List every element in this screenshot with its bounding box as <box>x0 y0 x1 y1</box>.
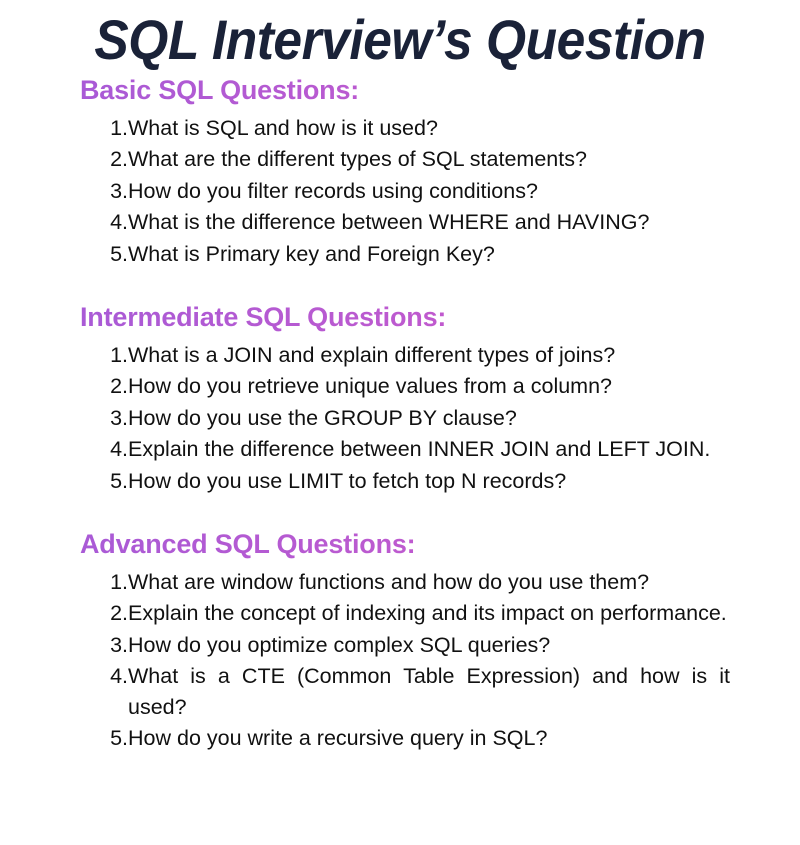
question-list-intermediate: 1. What is a JOIN and explain different … <box>80 340 730 497</box>
list-item-number: 1. <box>80 567 128 598</box>
list-item-number: 2. <box>80 598 128 629</box>
list-item-text: What is the difference between WHERE and… <box>128 207 730 238</box>
list-item-number: 5. <box>80 239 128 270</box>
list-item: 4. What is the difference between WHERE … <box>80 207 730 238</box>
list-item-text: How do you filter records using conditio… <box>128 176 730 207</box>
list-item: 1. What is a JOIN and explain different … <box>80 340 730 371</box>
section-basic-sql: Basic SQL Questions: 1. What is SQL and … <box>80 72 730 269</box>
question-list-basic: 1. What is SQL and how is it used? 2. Wh… <box>80 113 730 270</box>
list-item-number: 5. <box>80 466 128 497</box>
list-item-text: What are window functions and how do you… <box>128 567 730 598</box>
list-item: 3. How do you filter records using condi… <box>80 176 730 207</box>
list-item-text: How do you retrieve unique values from a… <box>128 371 730 402</box>
questions-container: Basic SQL Questions: 1. What is SQL and … <box>0 72 800 754</box>
list-item-text: What is Primary key and Foreign Key? <box>128 239 730 270</box>
list-item-text: Explain the concept of indexing and its … <box>128 598 730 629</box>
list-item-text: What are the different types of SQL stat… <box>128 144 730 175</box>
list-item-number: 1. <box>80 113 128 144</box>
list-item: 4. What is a CTE (Common Table Expressio… <box>80 661 730 722</box>
list-item-number: 5. <box>80 723 128 754</box>
list-item-text: What is SQL and how is it used? <box>128 113 730 144</box>
list-item-text: How do you use LIMIT to fetch top N reco… <box>128 466 730 497</box>
list-item-text: What is a JOIN and explain different typ… <box>128 340 730 371</box>
list-item-text: How do you use the GROUP BY clause? <box>128 403 730 434</box>
list-item: 2. What are the different types of SQL s… <box>80 144 730 175</box>
document-page: SQL Interview’s Question Basic SQL Quest… <box>0 0 800 845</box>
question-list-advanced: 1. What are window functions and how do … <box>80 567 730 754</box>
list-item: 4. Explain the difference between INNER … <box>80 434 730 465</box>
list-item: 3. How do you optimize complex SQL queri… <box>80 630 730 661</box>
list-item-number: 3. <box>80 176 128 207</box>
list-item-number: 1. <box>80 340 128 371</box>
list-item-text: Explain the difference between INNER JOI… <box>128 434 730 465</box>
list-item-number: 4. <box>80 661 128 692</box>
list-item: 5. What is Primary key and Foreign Key? <box>80 239 730 270</box>
list-item: 1. What is SQL and how is it used? <box>80 113 730 144</box>
list-item-text: What is a CTE (Common Table Expression) … <box>128 661 730 722</box>
list-item-number: 4. <box>80 434 128 465</box>
section-heading-intermediate: Intermediate SQL Questions: <box>80 299 730 335</box>
section-heading-advanced: Advanced SQL Questions: <box>80 526 730 562</box>
section-advanced-sql: Advanced SQL Questions: 1. What are wind… <box>80 526 730 754</box>
list-item-number: 3. <box>80 630 128 661</box>
section-intermediate-sql: Intermediate SQL Questions: 1. What is a… <box>80 299 730 496</box>
list-item: 5. How do you write a recursive query in… <box>80 723 730 754</box>
list-item: 2. How do you retrieve unique values fro… <box>80 371 730 402</box>
list-item: 3. How do you use the GROUP BY clause? <box>80 403 730 434</box>
list-item: 1. What are window functions and how do … <box>80 567 730 598</box>
list-item-text: How do you write a recursive query in SQ… <box>128 723 730 754</box>
list-item-number: 2. <box>80 371 128 402</box>
section-heading-basic: Basic SQL Questions: <box>80 72 730 108</box>
page-title: SQL Interview’s Question <box>32 0 768 72</box>
list-item-text: How do you optimize complex SQL queries? <box>128 630 730 661</box>
list-item: 2. Explain the concept of indexing and i… <box>80 598 730 629</box>
list-item-number: 4. <box>80 207 128 238</box>
list-item-number: 2. <box>80 144 128 175</box>
list-item: 5. How do you use LIMIT to fetch top N r… <box>80 466 730 497</box>
list-item-number: 3. <box>80 403 128 434</box>
